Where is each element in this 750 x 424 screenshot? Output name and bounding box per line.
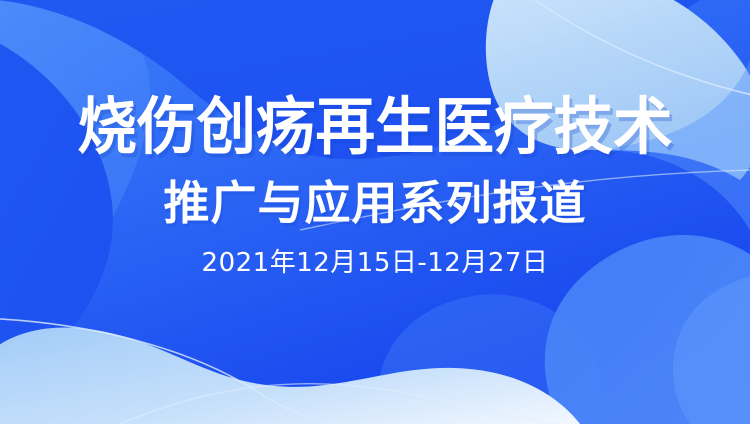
banner-title: 烧伤创疡再生医疗技术 bbox=[77, 96, 672, 158]
promo-banner: 烧伤创疡再生医疗技术 推广与应用系列报道 2021年12月15日-12月27日 bbox=[0, 0, 750, 424]
banner-date-range: 2021年12月15日-12月27日 bbox=[202, 250, 549, 276]
banner-subtitle: 推广与应用系列报道 bbox=[164, 180, 587, 226]
banner-text-layer: 烧伤创疡再生医疗技术 推广与应用系列报道 2021年12月15日-12月27日 bbox=[0, 0, 750, 424]
